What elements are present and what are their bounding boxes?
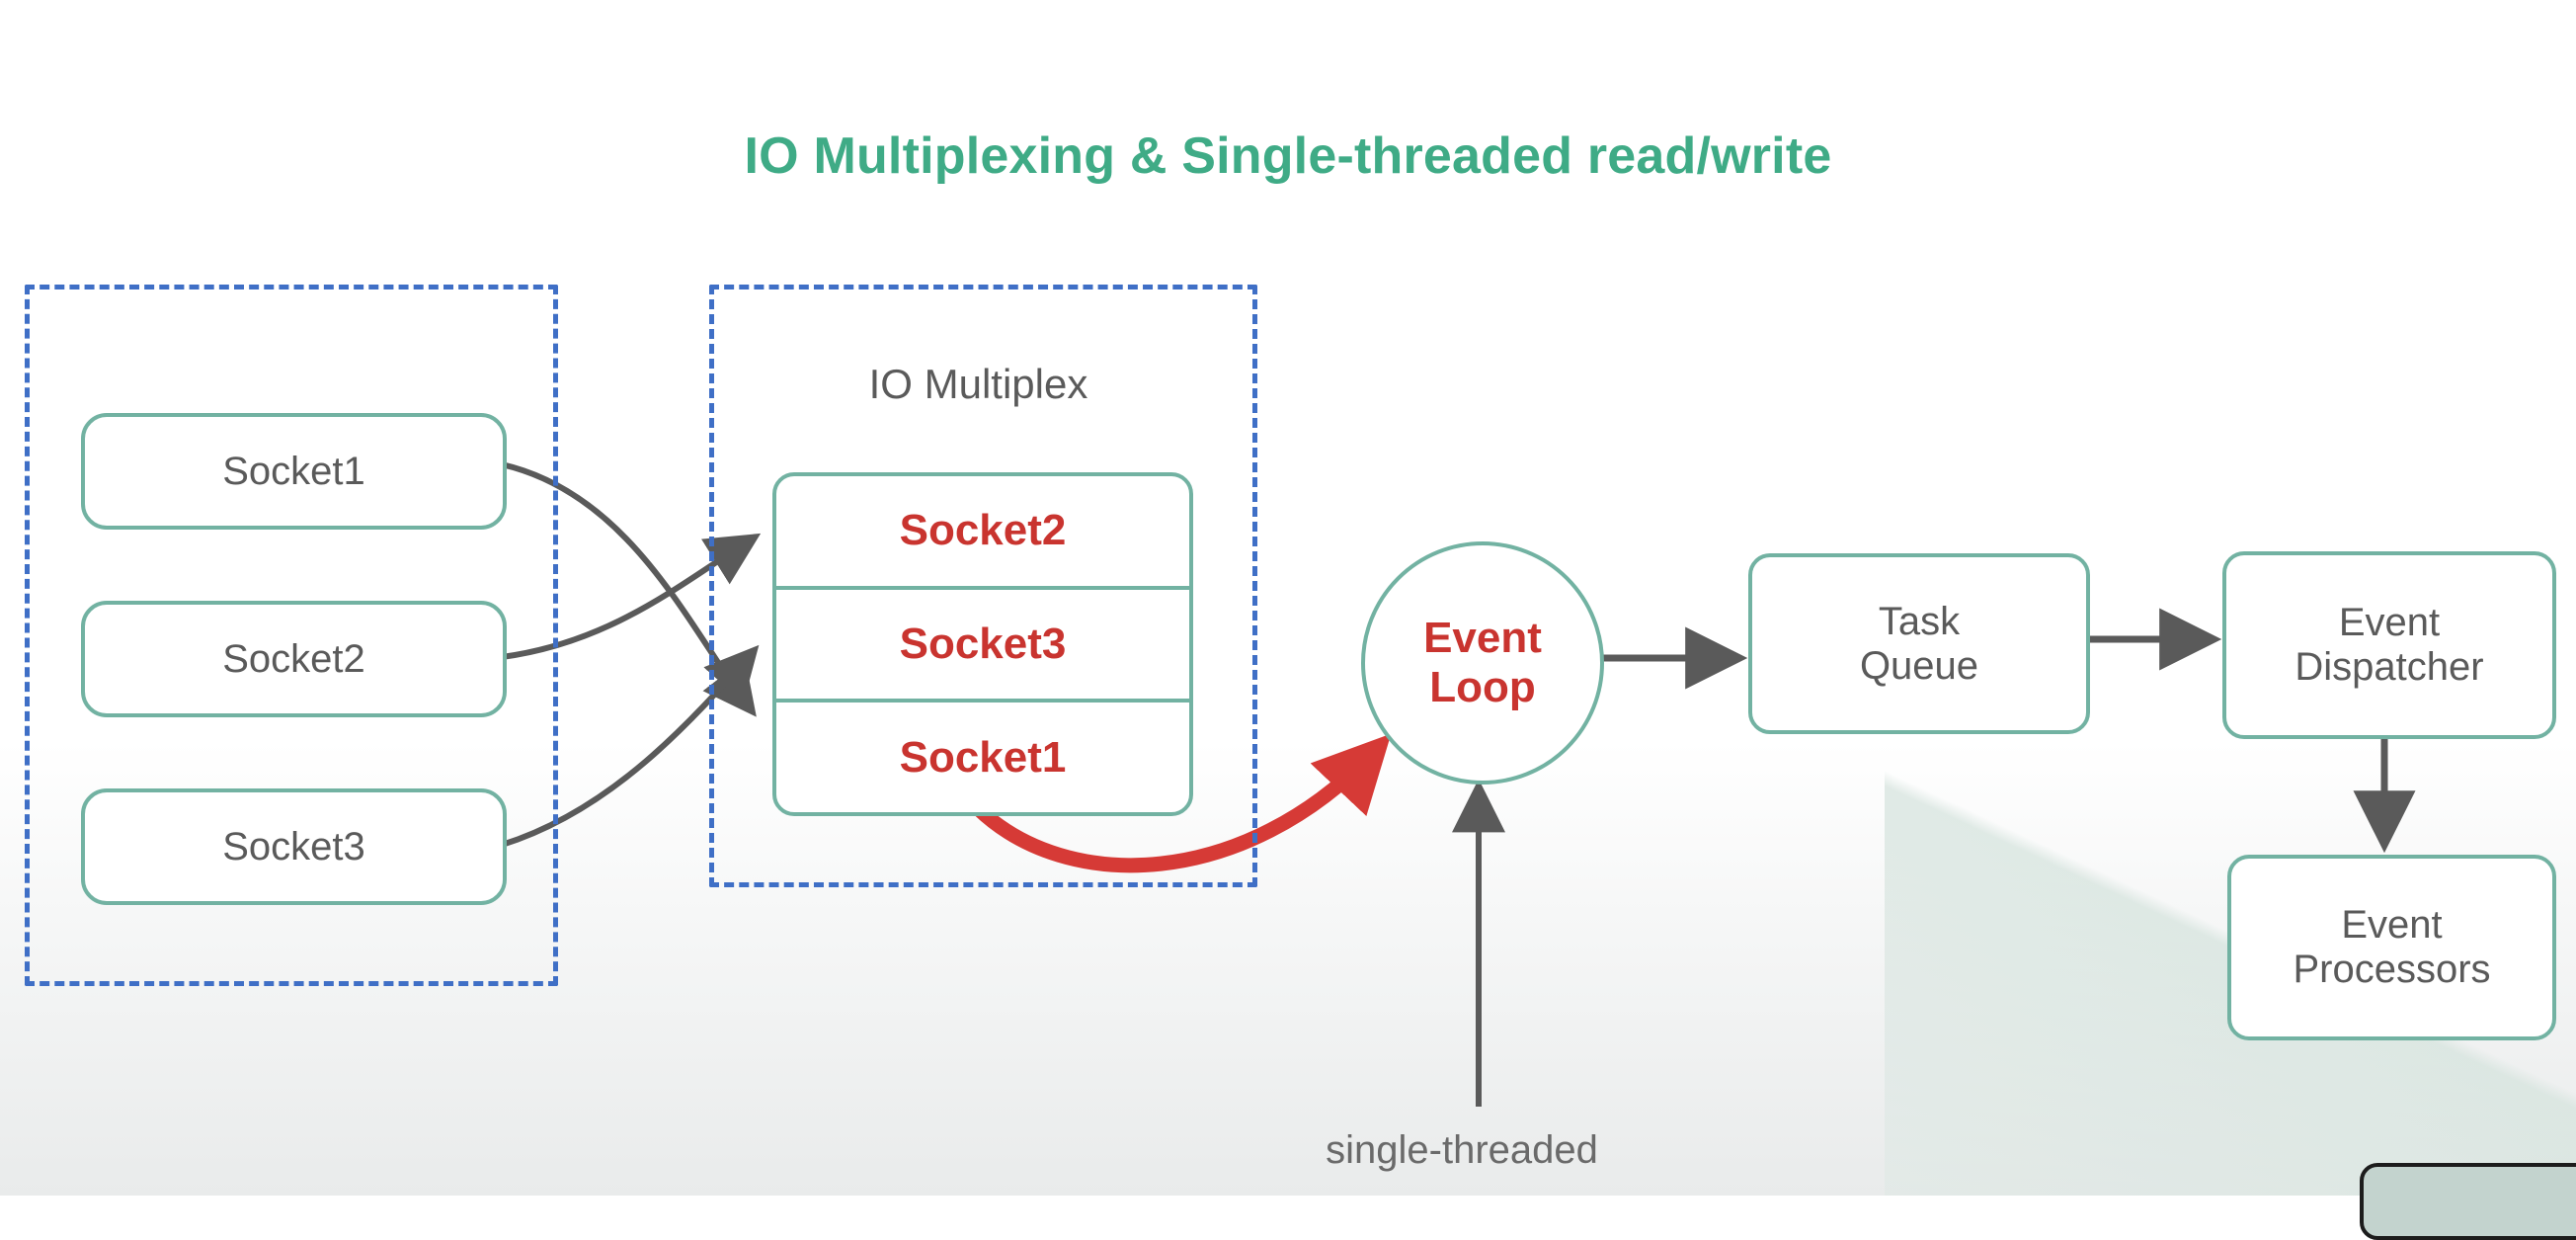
ready-socket-label-2: Socket3 xyxy=(900,620,1067,669)
event-loop-node[interactable]: Event Loop xyxy=(1361,541,1604,785)
event-dispatcher-label-line2: Dispatcher xyxy=(2294,645,2483,690)
client-socket-label-1: Socket1 xyxy=(222,450,365,494)
client-socket-label-2: Socket2 xyxy=(222,637,365,682)
client-socket-box-3[interactable]: Socket3 xyxy=(81,788,507,905)
event-dispatcher-node[interactable]: Event Dispatcher xyxy=(2222,551,2556,739)
ready-socket-row-2[interactable]: Socket3 xyxy=(776,586,1189,700)
event-processors-label-line2: Processors xyxy=(2293,948,2490,992)
client-socket-label-3: Socket3 xyxy=(222,825,365,869)
ready-socket-label-1: Socket2 xyxy=(900,506,1067,555)
io-multiplex-label: IO Multiplex xyxy=(709,361,1248,408)
event-loop-label-line2: Loop xyxy=(1429,663,1536,712)
task-queue-node[interactable]: Task Queue xyxy=(1748,553,2090,734)
ready-socket-stack: Socket2 Socket3 Socket1 xyxy=(772,472,1193,816)
task-queue-label-line1: Task xyxy=(1860,600,1978,644)
diagram-canvas: IO Multiplexing & Single-threaded read/w… xyxy=(0,0,2576,1196)
page-title: IO Multiplexing & Single-threaded read/w… xyxy=(0,126,2576,186)
single-threaded-annotation: single-threaded xyxy=(1274,1128,1650,1173)
client-socket-box-2[interactable]: Socket2 xyxy=(81,601,507,717)
ready-socket-label-3: Socket1 xyxy=(900,733,1067,783)
task-queue-label-line2: Queue xyxy=(1860,644,1978,689)
ready-socket-row-1[interactable]: Socket2 xyxy=(776,476,1189,586)
event-processors-node[interactable]: Event Processors xyxy=(2227,855,2556,1040)
event-dispatcher-label-line1: Event xyxy=(2294,601,2483,645)
client-socket-box-1[interactable]: Socket1 xyxy=(81,413,507,530)
event-loop-label-line1: Event xyxy=(1423,614,1542,663)
corner-card-fragment xyxy=(2360,1163,2576,1240)
event-processors-label-line1: Event xyxy=(2293,903,2490,948)
ready-socket-row-3[interactable]: Socket1 xyxy=(776,699,1189,812)
